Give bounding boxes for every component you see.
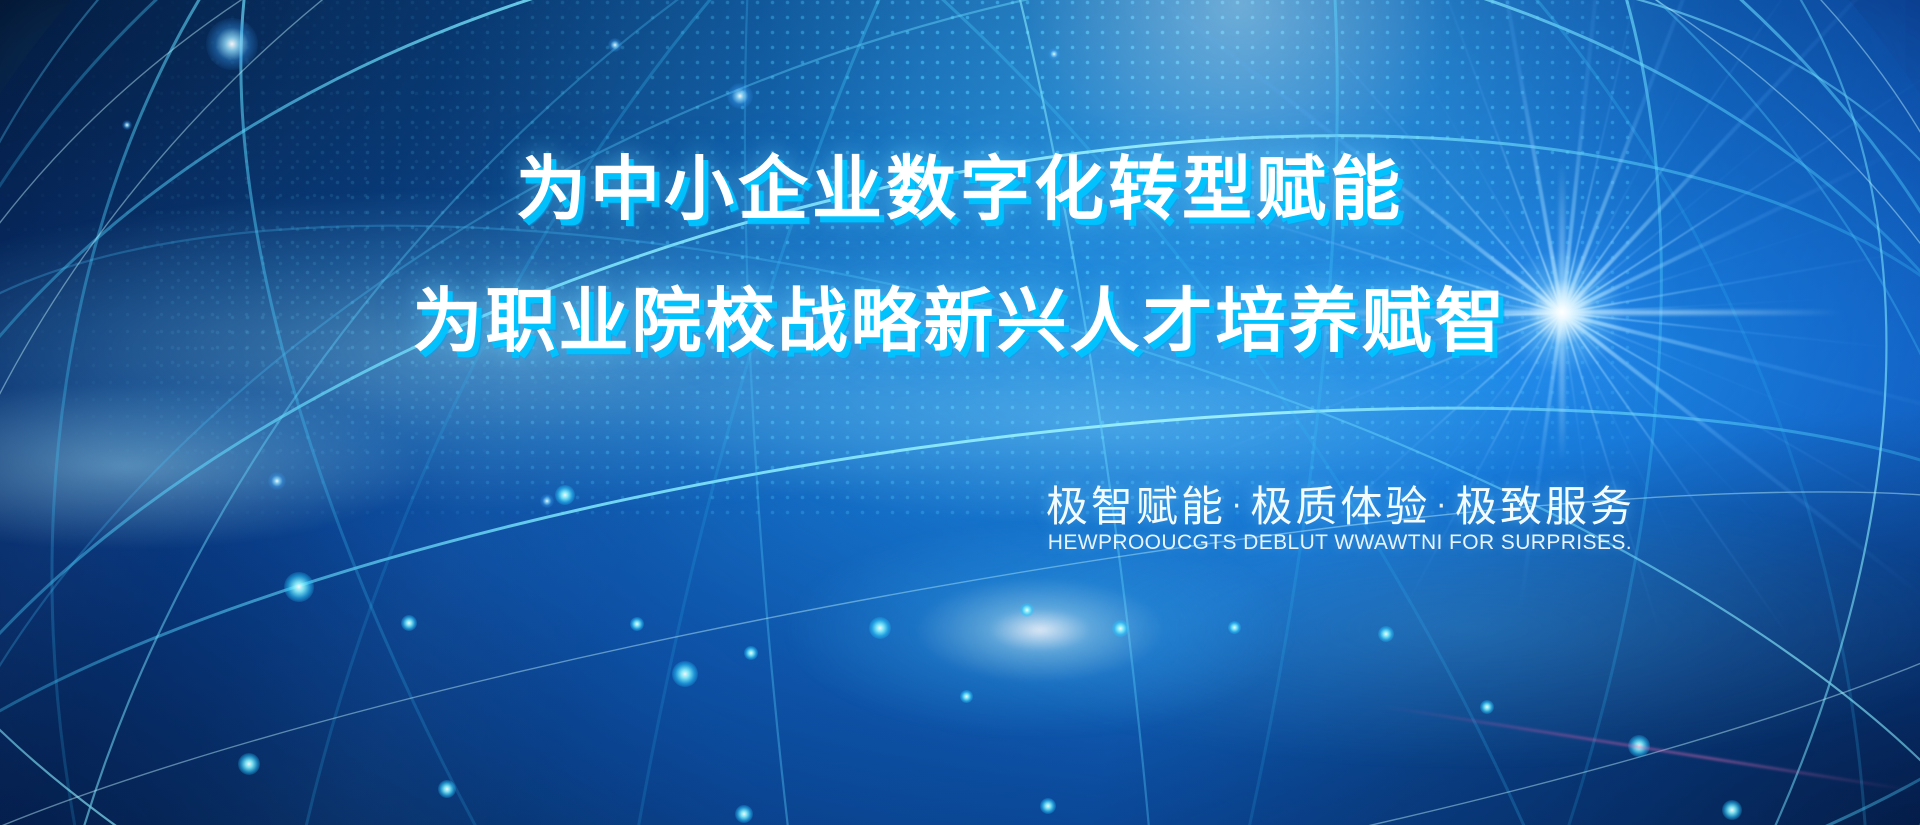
tagline-part-3: 极致服务 (1455, 482, 1635, 531)
tagline-separator-2: · (1430, 489, 1455, 524)
headline-line-1: 为中小企业数字化转型赋能 (0, 154, 1920, 224)
subtitle-english: HEWPROOUCGTS DEBLUT WWAWTNI FOR SURPRISE… (0, 531, 1632, 555)
tagline-part-2: 极质体验 (1250, 482, 1430, 531)
hero-banner: 为中小企业数字化转型赋能 为职业院校战略新兴人才培养赋智 极智赋能·极质体验·极… (0, 0, 1920, 825)
tagline-separator-1: · (1226, 489, 1251, 524)
headline-line-2: 为职业院校战略新兴人才培养赋智 (0, 286, 1920, 356)
banner-content: 为中小企业数字化转型赋能 为职业院校战略新兴人才培养赋智 极智赋能·极质体验·极… (0, 0, 1920, 825)
tagline-part-1: 极智赋能 (1046, 482, 1226, 531)
tagline: 极智赋能·极质体验·极致服务 (0, 473, 1635, 534)
